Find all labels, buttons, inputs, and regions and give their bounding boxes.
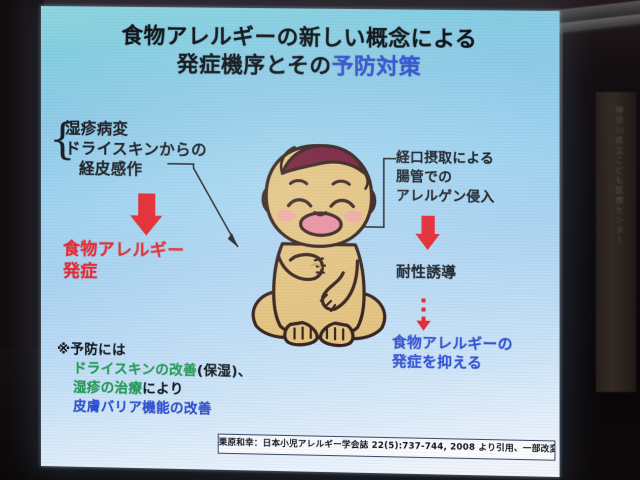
right-middle-text: 耐性誘導 — [396, 264, 456, 284]
note-line-3: 皮膚バリア機能の改善 — [57, 397, 252, 420]
right-outcome-line-1: 食物アレルギーの — [392, 334, 513, 356]
right-outcome-text: 食物アレルギーの 発症を抑える — [392, 334, 513, 375]
left-cause-line-1: 湿疹病変 — [65, 118, 207, 140]
projection-screen: 食物アレルギーの新しい概念による 発症機序とその予防対策 { 湿疹病変 ドライス… — [41, 6, 560, 477]
dotted-arrow-head — [416, 321, 430, 331]
right-cause-line-3: アレルゲン侵入 — [396, 187, 495, 207]
right-cause-line-2: 腸管での — [396, 168, 495, 188]
left-cause-text: 湿疹病変 ドライスキンからの 経皮感作 — [65, 118, 207, 180]
arrow-shaft — [138, 193, 155, 217]
arrow-head — [130, 215, 162, 236]
left-outcome-text: 食物アレルギー 発症 — [63, 238, 185, 285]
citation-box: 栗原和幸：日本小児アレルギー学会誌 22(5):737-744, 2008 より… — [218, 434, 556, 461]
screenshot-root: 神奈川県立こども医療センター 食物アレルギーの新しい概念による 発症機序とその予… — [0, 0, 640, 480]
baby-sitting-illustration — [238, 139, 400, 373]
left-outcome-line-2: 発症 — [63, 261, 185, 285]
left-cause-line-3: 経皮感作 — [65, 159, 207, 181]
down-arrow-red-right — [412, 215, 443, 256]
wall-banner: 神奈川県立こども医療センター — [596, 92, 636, 392]
right-cause-text: 経口摂取による 腸管での アレルゲン侵入 — [396, 149, 495, 208]
arrow-head — [415, 234, 439, 251]
dotted-arrow-shaft — [421, 298, 425, 322]
left-brace: { — [49, 116, 65, 166]
slide-title-highlight: 予防対策 — [332, 55, 421, 81]
slide-title-line1: 食物アレルギーの新しい概念による — [121, 24, 477, 53]
slide-title-line2: 発症機序とその予防対策 — [41, 50, 560, 84]
slide-title: 食物アレルギーの新しい概念による 発症機序とその予防対策 — [41, 22, 560, 85]
left-cause-line-2: ドライスキンからの — [65, 138, 207, 160]
connector-left-arrowhead — [228, 233, 238, 247]
wall-banner-text: 神奈川県立こども医療センター — [603, 106, 625, 376]
down-arrow-red-dotted — [416, 298, 432, 335]
down-arrow-red-left — [129, 193, 163, 238]
right-cause-line-1: 経口摂取による — [396, 149, 495, 169]
slide-content: 食物アレルギーの新しい概念による 発症機序とその予防対策 { 湿疹病変 ドライス… — [41, 6, 560, 477]
note-line-2-green: 湿疹の治療 — [73, 379, 142, 396]
note-line-2-black: により — [142, 381, 183, 398]
left-outcome-line-1: 食物アレルギー — [63, 238, 185, 262]
slide-title-line2-plain: 発症機序とその — [177, 53, 332, 80]
wall-edge — [560, 30, 563, 480]
note-line-1-green: ドライスキンの改善 — [73, 360, 197, 378]
right-outcome-line-2: 発症を抑える — [392, 354, 513, 376]
prevention-note: ※予防には ドライスキンの改善(保湿)、 湿疹の治療により 皮膚バリア機能の改善 — [57, 340, 252, 419]
